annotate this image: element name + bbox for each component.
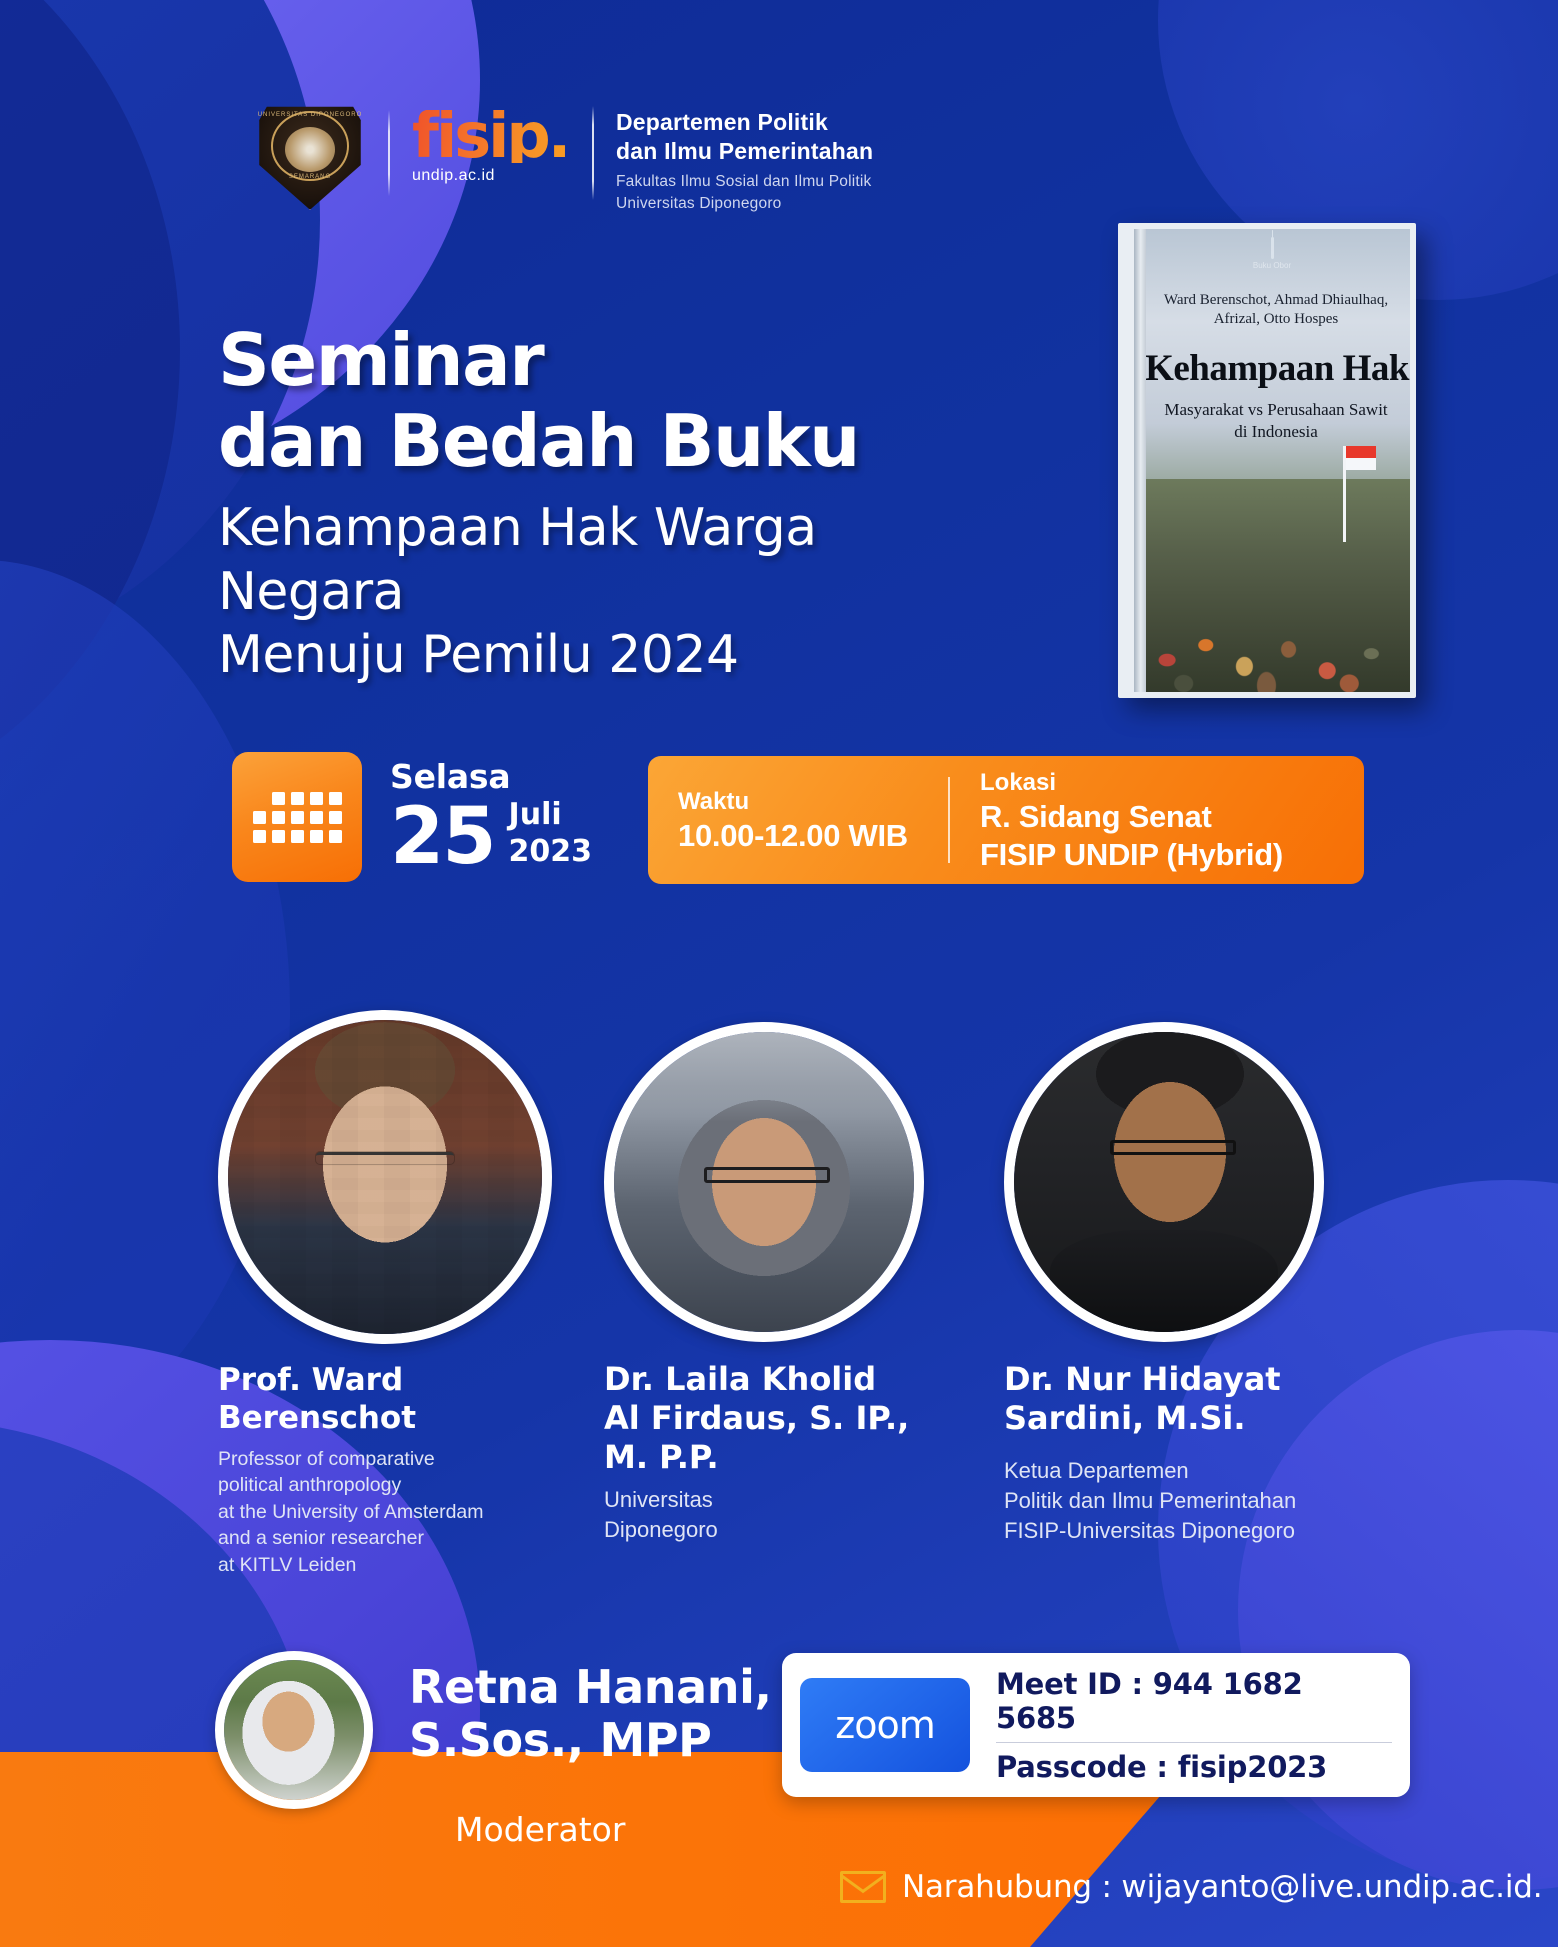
undip-emblem-shape <box>285 127 335 172</box>
event-year: 2023 <box>509 834 593 871</box>
event-month: Juli <box>509 797 593 834</box>
speaker-1-desc-line-1: Professor of comparative <box>218 1446 578 1473</box>
event-date-block: Selasa 25 Juli 2023 <box>232 752 592 882</box>
portrait-retna-hanani <box>224 1660 364 1800</box>
title-line-1: Seminar <box>218 320 1018 401</box>
zoom-passcode: Passcode : fisip2023 <box>996 1743 1392 1791</box>
poster-title-block: Seminar dan Bedah Buku Kehampaan Hak War… <box>218 320 1018 688</box>
event-date-text: Selasa 25 Juli 2023 <box>390 760 592 874</box>
speaker-photo-nur-hidayat-sardini <box>1004 1022 1324 1342</box>
header-divider-1 <box>388 110 390 196</box>
zoom-meeting-card[interactable]: zoom Meet ID : 944 1682 5685 Passcode : … <box>782 1653 1410 1797</box>
speaker-3-desc-line-1: Ketua Departemen <box>1004 1456 1364 1486</box>
zoom-meet-id: Meet ID : 944 1682 5685 <box>996 1660 1392 1742</box>
event-day-number: 25 <box>390 802 495 874</box>
book-cover-inner: Buku Obor Ward Berenschot, Ahmad Dhiaulh… <box>1134 229 1410 692</box>
department-line-1: Departemen Politik <box>616 108 873 137</box>
undip-logo-top-text: UNIVERSITAS DIPONEGORO <box>256 112 364 118</box>
book-cover-image: Buku Obor Ward Berenschot, Ahmad Dhiaulh… <box>1118 223 1416 698</box>
fisip-wordmark: fisip. <box>412 110 582 163</box>
title-line-2: dan Bedah Buku <box>218 401 1018 482</box>
portrait-nur-hidayat-sardini <box>1014 1032 1314 1332</box>
subtitle-line-2: Menuju Pemilu 2024 <box>218 624 1018 687</box>
book-title: Kehampaan Hak <box>1134 347 1410 390</box>
speaker-3-name-line-1: Dr. Nur Hidayat <box>1004 1360 1364 1399</box>
portrait-ward-berenschot <box>228 1020 542 1334</box>
moderator-name-line-2: S.Sos., MPP <box>409 1714 772 1767</box>
subtitle-line-1: Kehampaan Hak Warga Negara <box>218 497 1018 624</box>
contact-text: Narahubung : wijayanto@live.undip.ac.id. <box>902 1869 1542 1905</box>
header-divider-2 <box>592 106 594 200</box>
speaker-card-laila-kholid: Dr. Laila Kholid Al Firdaus, S. IP., M. … <box>604 1022 964 1545</box>
book-spine <box>1134 229 1146 692</box>
speaker-photo-ward-berenschot <box>218 1010 552 1344</box>
time-location-box: Waktu 10.00-12.00 WIB Lokasi R. Sidang S… <box>648 756 1364 884</box>
event-day-name: Selasa <box>390 760 592 793</box>
fisip-logo-block: fisip. undip.ac.id <box>412 100 582 185</box>
seminar-poster: UNIVERSITAS DIPONEGORO SEMARANG fisip. u… <box>0 0 1558 1947</box>
speaker-1-desc-line-5: at KITLV Leiden <box>218 1552 578 1579</box>
speaker-3-desc-line-2: Politik dan Ilmu Pemerintahan <box>1004 1486 1364 1516</box>
speaker-2-name-line-3: M. P.P. <box>604 1438 964 1477</box>
book-crowd-photo <box>1134 479 1410 692</box>
poster-header: UNIVERSITAS DIPONEGORO SEMARANG fisip. u… <box>256 100 873 215</box>
location-line-2: FISIP UNDIP (Hybrid) <box>980 836 1283 874</box>
moderator-name-line-1: Retna Hanani, <box>409 1661 772 1714</box>
time-column: Waktu 10.00-12.00 WIB <box>648 786 948 855</box>
location-label: Lokasi <box>980 767 1283 798</box>
book-publisher-emblem-icon: Buku Obor <box>1249 237 1295 270</box>
university-line: Universitas Diponegoro <box>616 193 873 215</box>
mail-icon <box>840 1871 886 1903</box>
speaker-2-name-line-1: Dr. Laila Kholid <box>604 1360 964 1399</box>
calendar-icon <box>232 752 362 882</box>
book-subtitle: Masyarakat vs Perusahaan Sawit di Indone… <box>1134 399 1410 443</box>
speaker-2-desc-line-1: Universitas <box>604 1485 964 1515</box>
calendar-grid-shape <box>253 792 342 843</box>
zoom-credentials: Meet ID : 944 1682 5685 Passcode : fisip… <box>996 1660 1392 1791</box>
torch-icon <box>1271 237 1274 259</box>
event-date-number-row: 25 Juli 2023 <box>390 797 592 874</box>
location-column: Lokasi R. Sidang Senat FISIP UNDIP (Hybr… <box>950 767 1313 874</box>
time-label: Waktu <box>678 786 918 817</box>
moderator-role-label: Moderator <box>455 1810 625 1849</box>
moderator-block: Retna Hanani, S.Sos., MPP <box>215 1651 772 1809</box>
speaker-card-nur-hidayat-sardini: Dr. Nur Hidayat Sardini, M.Si. Ketua Dep… <box>1004 1022 1364 1546</box>
time-value: 10.00-12.00 WIB <box>678 817 918 855</box>
speaker-1-name-line-2: Berenschot <box>218 1400 578 1438</box>
location-line-1: R. Sidang Senat <box>980 798 1283 836</box>
contact-footer[interactable]: Narahubung : wijayanto@live.undip.ac.id. <box>840 1869 1542 1905</box>
speaker-1-name-line-1: Prof. Ward <box>218 1362 578 1400</box>
speaker-1-desc-line-2: political anthropology <box>218 1472 578 1499</box>
moderator-photo <box>215 1651 373 1809</box>
speaker-1-desc-line-4: and a senior researcher <box>218 1525 578 1552</box>
faculty-line: Fakultas Ilmu Sosial dan Ilmu Politik <box>616 171 873 193</box>
portrait-laila-kholid <box>614 1032 914 1332</box>
speaker-2-name-line-2: Al Firdaus, S. IP., <box>604 1399 964 1438</box>
book-publisher-mark: Buku Obor <box>1253 261 1291 270</box>
book-authors: Ward Berenschot, Ahmad Dhiaulhaq, Afriza… <box>1134 291 1410 329</box>
undip-logo-bottom-text: SEMARANG <box>256 174 364 180</box>
moderator-text: Retna Hanani, S.Sos., MPP <box>409 1651 772 1768</box>
speaker-3-desc-line-3: FISIP-Universitas Diponegoro <box>1004 1516 1364 1546</box>
indonesian-flag-icon <box>1343 446 1346 542</box>
decorative-circle-top-left-dark <box>0 0 180 820</box>
undip-logo-icon: UNIVERSITAS DIPONEGORO SEMARANG <box>256 100 364 212</box>
speaker-3-name-line-2: Sardini, M.Si. <box>1004 1399 1364 1438</box>
department-line-2: dan Ilmu Pemerintahan <box>616 137 873 166</box>
zoom-logo-text: zoom <box>835 1703 934 1747</box>
department-block: Departemen Politik dan Ilmu Pemerintahan… <box>616 100 873 215</box>
speaker-photo-laila-kholid <box>604 1022 924 1342</box>
event-month-year: Juli 2023 <box>509 797 593 874</box>
speaker-card-ward-berenschot: Prof. Ward Berenschot Professor of compa… <box>218 1010 578 1578</box>
speaker-1-desc-line-3: at the University of Amsterdam <box>218 1499 578 1526</box>
speaker-2-desc-line-2: Diponegoro <box>604 1515 964 1545</box>
zoom-logo-icon: zoom <box>800 1678 970 1772</box>
